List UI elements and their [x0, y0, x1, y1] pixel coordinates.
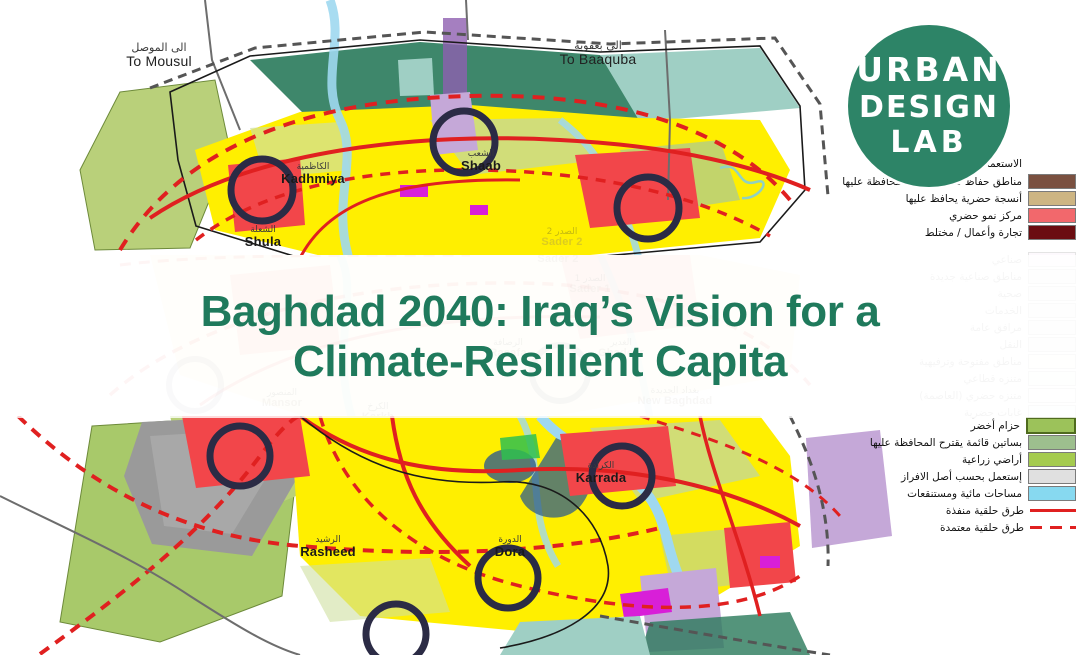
legend-item-implemented-ring-roads[interactable]: طرق حلقية منفذة: [870, 503, 1076, 518]
legend-label: إستعمل بحسب أصل الافراز: [901, 471, 1022, 483]
legend-line-approved-ring: [1030, 521, 1076, 534]
legend-swatch-commerce: [1028, 225, 1076, 240]
legend-item-use-per-original-parcel[interactable]: إستعمل بحسب أصل الافراز: [870, 469, 1076, 484]
legend-swatch-original-parcel: [1028, 469, 1076, 484]
logo-line-urban: URBAN: [856, 51, 1002, 90]
legend-item-existing-orchards[interactable]: بساتين قائمة يقترح المحافظة عليها: [870, 435, 1076, 450]
legend-swatch-urban-fabric: [1028, 191, 1076, 206]
poster-canvas: الى الموصل To Mousul الى بعقوبة To Baaqu…: [0, 0, 1080, 655]
legend-item-agricultural-land[interactable]: أراضي زراعية: [870, 452, 1076, 467]
legend-swatch-water: [1028, 486, 1076, 501]
legend-swatch-orchards: [1028, 435, 1076, 450]
legend-label: بساتين قائمة يقترح المحافظة عليها: [870, 437, 1022, 449]
legend-label: مركز نمو حضري: [949, 210, 1022, 222]
legend-swatch-conservation: [1028, 174, 1076, 189]
legend-item-water-bodies-marshes[interactable]: مساحات مائية ومستنقعات: [870, 486, 1076, 501]
legend-swatch-green-belt: [1026, 417, 1076, 434]
page-title-line-1: Baghdad 2040: Iraq’s Vision for a: [201, 287, 880, 336]
legend-item-commerce-mixed[interactable]: تجارة وأعمال / مختلط: [842, 225, 1076, 240]
title-overlay-band: Baghdad 2040: Iraq’s Vision for a Climat…: [0, 255, 1080, 418]
legend-label: تجارة وأعمال / مختلط: [925, 227, 1022, 239]
legend-label: طرق حلقية منفذة: [946, 505, 1024, 517]
legend-label: مساحات مائية ومستنقعات: [907, 488, 1022, 500]
legend-label: حزام أخضر: [971, 420, 1020, 432]
logo-line-lab: LAB: [890, 125, 967, 160]
legend-item-preserved-urban-fabric[interactable]: أنسجة حضرية يحافظ عليها: [842, 191, 1076, 206]
legend-label: أراضي زراعية: [962, 454, 1022, 466]
urban-design-lab-logo[interactable]: URBAN DESIGN LAB: [848, 25, 1010, 187]
logo-line-design: DESIGN: [859, 90, 999, 125]
legend-green-water-roads: حزام أخضر بساتين قائمة يقترح المحافظة عل…: [870, 418, 1076, 535]
legend-label: أنسجة حضرية يحافظ عليها: [906, 193, 1022, 205]
legend-label: طرق حلقية معتمدة: [940, 522, 1024, 534]
legend-item-urban-growth-center[interactable]: مركز نمو حضري: [842, 208, 1076, 223]
legend-swatch-agricultural: [1028, 452, 1076, 467]
legend-item-green-belt[interactable]: حزام أخضر: [870, 418, 1076, 433]
legend-line-implemented-ring: [1030, 504, 1076, 517]
legend-swatch-growth-center: [1028, 208, 1076, 223]
page-title-line-2: Climate-Resilient Capita: [293, 337, 787, 386]
legend-item-approved-ring-roads[interactable]: طرق حلقية معتمدة: [870, 520, 1076, 535]
